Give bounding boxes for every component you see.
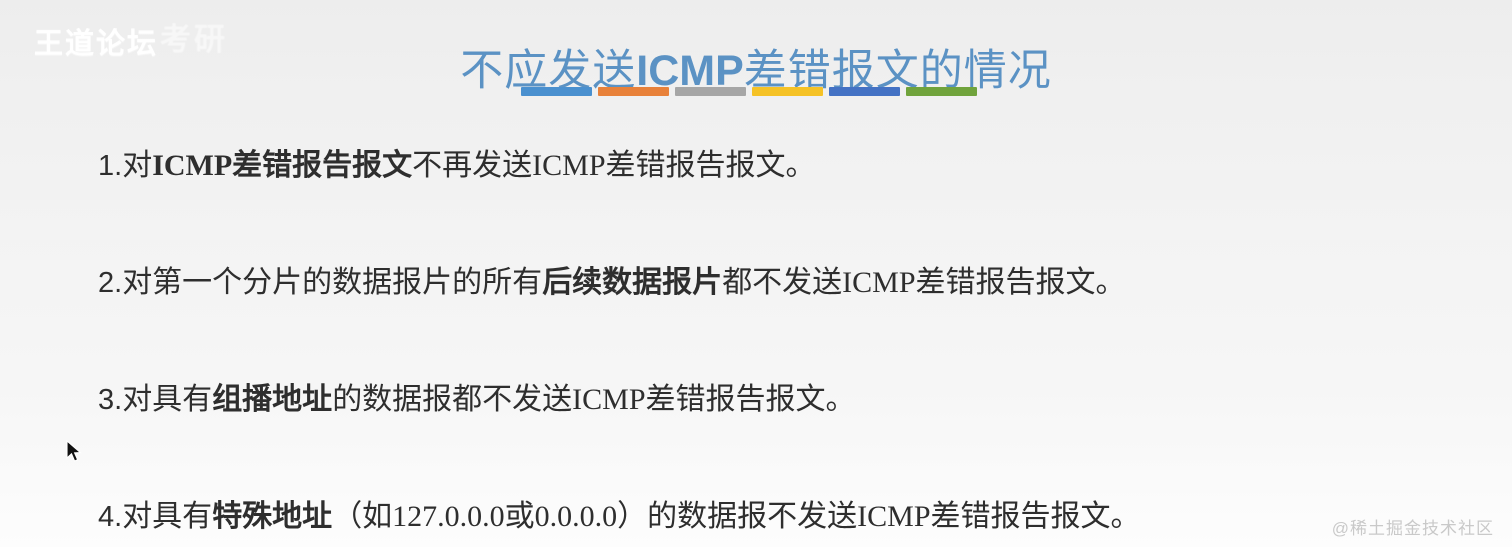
title-block: 不应发送ICMP差错报文的情况: [0, 14, 1512, 128]
accent-bar-6: [906, 87, 977, 96]
bullet-item-2: 2.对第一个分片的数据报片的所有后续数据报片都不发送ICMP差错报告报文。: [98, 263, 1478, 303]
bullet-pre-4: 对具有: [122, 500, 212, 533]
bullet-emphasis-1: ICMP差错报告报文: [152, 149, 412, 182]
bullet-item-4: 4.对具有特殊地址（如127.0.0.0或0.0.0.0）的数据报不发送ICMP…: [98, 497, 1478, 537]
bullet-post-1: 不再发送ICMP差错报告报文。: [412, 149, 815, 182]
bullet-list: 1.对ICMP差错报告报文不再发送ICMP差错报告报文。 2.对第一个分片的数据…: [98, 146, 1478, 537]
bullet-emphasis-4: 特殊地址: [212, 500, 332, 533]
arrow-pointer-icon: [66, 440, 84, 464]
bullet-emphasis-3: 组播地址: [212, 383, 332, 416]
bullet-number-4: 4.: [98, 501, 122, 533]
bullet-number-3: 3.: [98, 384, 122, 416]
accent-bar-5: [829, 87, 900, 96]
bullet-post-3: 的数据报都不发送ICMP差错报告报文。: [332, 383, 855, 416]
bullet-number-2: 2.: [98, 267, 122, 299]
site-watermark: @稀土掘金技术社区: [1332, 514, 1494, 539]
title-accent-bars: [521, 87, 977, 96]
slide-canvas: 王道论坛 考研 不应发送ICMP差错报文的情况 1.对ICMP差错报告报文不再发…: [0, 0, 1512, 547]
accent-bar-3: [675, 87, 746, 96]
bullet-post-4: （如127.0.0.0或0.0.0.0）的数据报不发送ICMP差错报告报文。: [332, 500, 1140, 533]
accent-bar-1: [521, 87, 592, 96]
bullet-item-3: 3.对具有组播地址的数据报都不发送ICMP差错报告报文。: [98, 380, 1478, 420]
bullet-pre-2: 对第一个分片的数据报片的所有: [122, 266, 542, 299]
bullet-post-2: 都不发送ICMP差错报告报文。: [722, 266, 1125, 299]
accent-bar-4: [752, 87, 823, 96]
bullet-pre-1: 对: [122, 149, 152, 182]
bullet-number-1: 1.: [98, 150, 122, 182]
bullet-pre-3: 对具有: [122, 383, 212, 416]
accent-bar-2: [598, 87, 669, 96]
bullet-item-1: 1.对ICMP差错报告报文不再发送ICMP差错报告报文。: [98, 146, 1478, 186]
bullet-emphasis-2: 后续数据报片: [542, 266, 722, 299]
